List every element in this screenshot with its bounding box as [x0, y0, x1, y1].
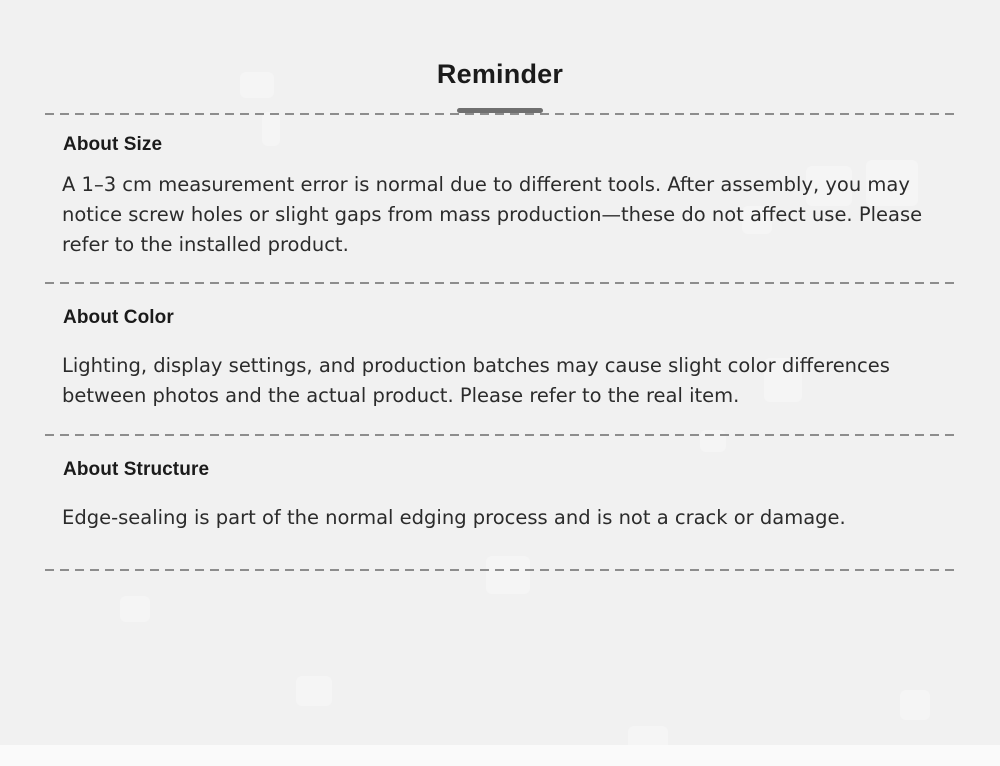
footer-band	[0, 745, 1000, 766]
section-about-structure: About Structure Edge-sealing is part of …	[0, 436, 1000, 570]
title-block: Reminder	[0, 0, 1000, 113]
reminder-page: Reminder About Size A 1–3 cm measurement…	[0, 0, 1000, 766]
section-heading-about-size: About Size	[45, 115, 955, 156]
section-about-size: About Size A 1–3 cm measurement error is…	[0, 115, 1000, 282]
section-body-about-size: A 1–3 cm measurement error is normal due…	[45, 156, 955, 282]
section-about-color: About Color Lighting, display settings, …	[0, 284, 1000, 433]
section-heading-about-color: About Color	[45, 284, 955, 329]
section-body-about-structure: Edge-sealing is part of the normal edgin…	[45, 481, 955, 570]
page-title: Reminder	[0, 58, 1000, 90]
divider-bottom	[45, 569, 955, 571]
section-heading-about-structure: About Structure	[45, 436, 955, 481]
section-body-about-color: Lighting, display settings, and producti…	[45, 329, 955, 433]
